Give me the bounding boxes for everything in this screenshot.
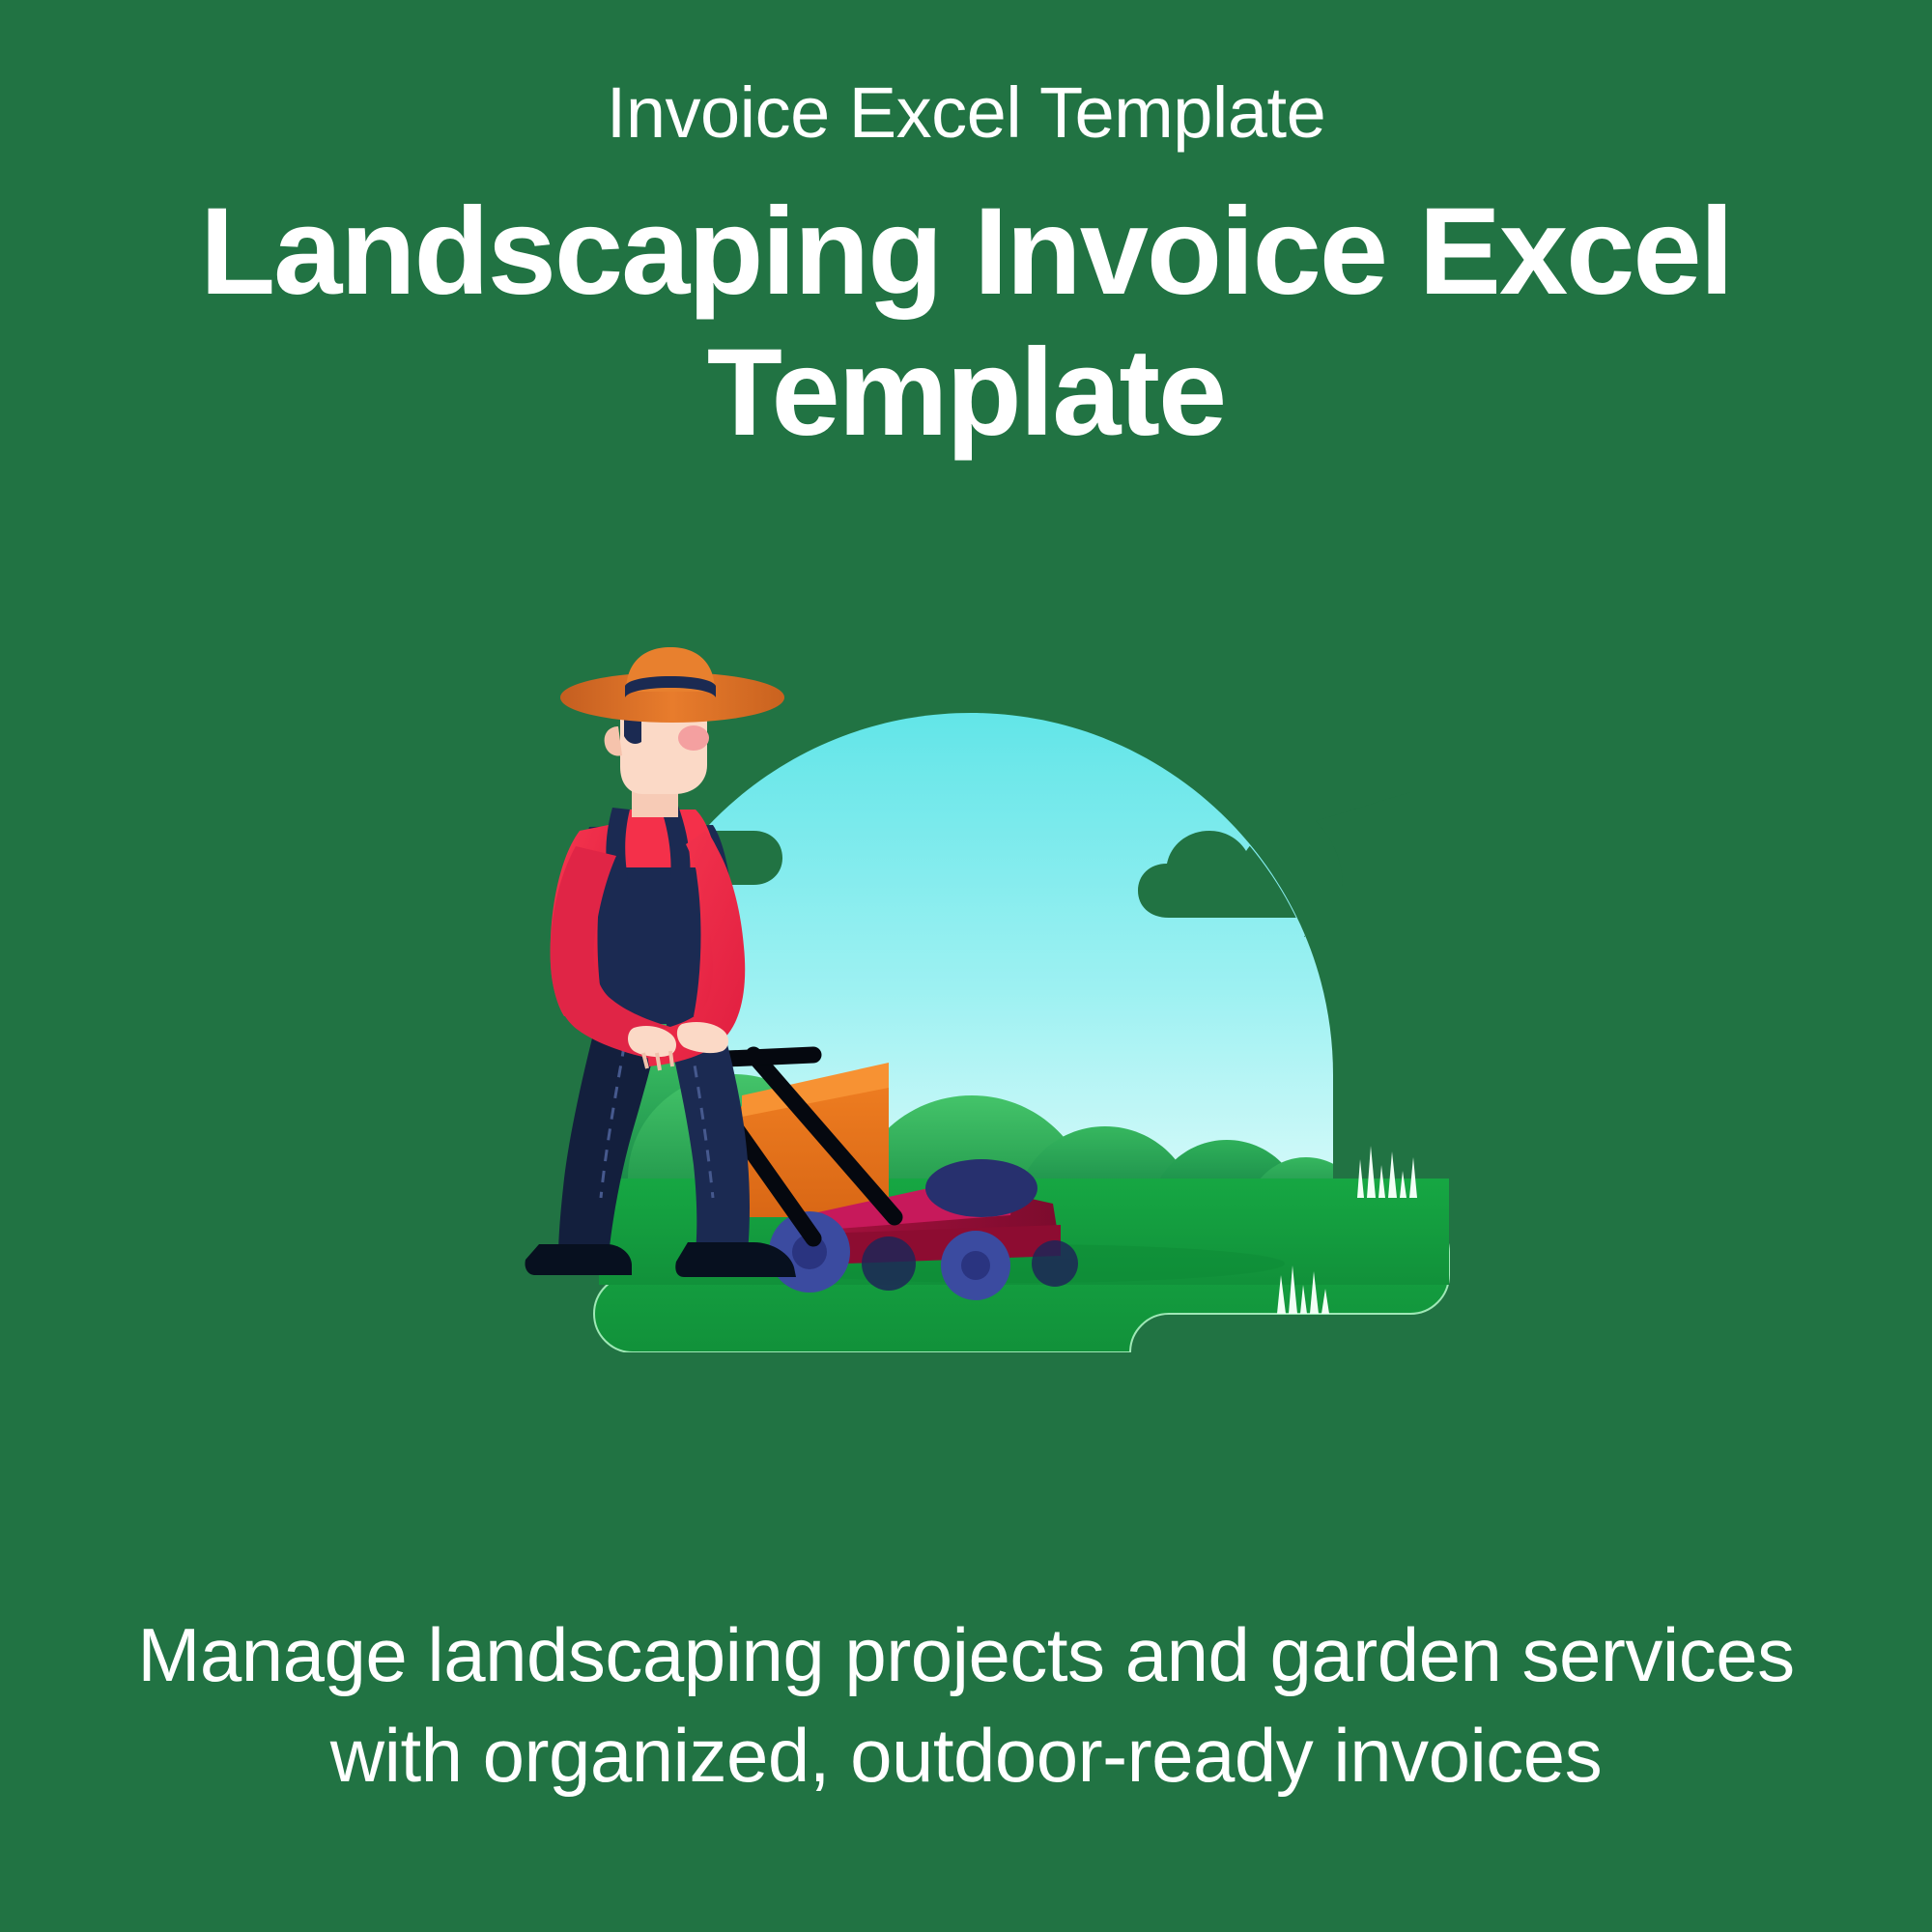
mower-engine bbox=[925, 1159, 1037, 1217]
eyebrow-label: Invoice Excel Template bbox=[607, 75, 1325, 151]
caption-line-1: Manage landscaping projects and garden s… bbox=[137, 1612, 1794, 1697]
caption-text: Manage landscaping projects and garden s… bbox=[77, 1605, 1855, 1806]
mower-wheel-inner bbox=[862, 1236, 916, 1291]
shoe-back bbox=[525, 1244, 632, 1275]
caption-line-2: with organized, outdoor-ready invoices bbox=[77, 1705, 1855, 1806]
page-title: Landscaping Invoice Excel Template bbox=[34, 182, 1898, 464]
ear bbox=[605, 726, 622, 756]
poster-canvas: Invoice Excel Template Landscaping Invoi… bbox=[0, 0, 1932, 1932]
cheek-blush bbox=[678, 725, 709, 751]
straw-hat bbox=[560, 647, 784, 723]
mower-wheel-front bbox=[941, 1231, 1010, 1300]
landscaper-illustration bbox=[435, 638, 1497, 1352]
mower-wheel-inner-2 bbox=[1032, 1240, 1078, 1287]
